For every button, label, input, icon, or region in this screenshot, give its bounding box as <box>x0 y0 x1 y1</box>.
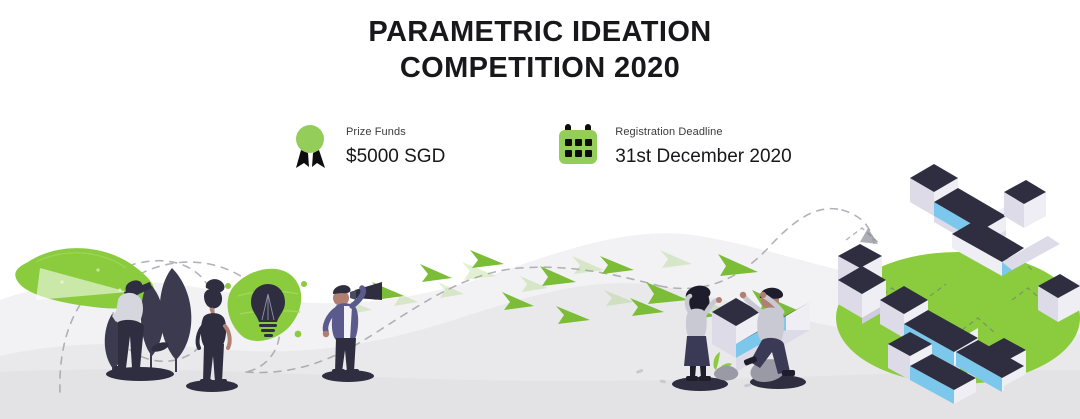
block-module <box>838 244 886 324</box>
construction-marks <box>846 228 1046 340</box>
green-disc <box>836 252 1080 384</box>
telescope-light-cone <box>36 268 128 300</box>
block-module <box>956 338 1026 392</box>
plant-and-rock <box>713 352 738 381</box>
dark-leaf-shapes <box>105 268 192 376</box>
page-title: PARAMETRIC IDEATION COMPETITION 2020 <box>0 14 1080 86</box>
paper-plane-flock <box>348 250 806 324</box>
title-line-2: COMPETITION 2020 <box>0 50 1080 86</box>
info-value-prize-funds: $5000 SGD <box>346 144 445 170</box>
lightbulb-blob <box>225 269 307 341</box>
construction-block <box>712 298 810 372</box>
green-leaf-blob <box>15 248 154 308</box>
info-label-prize-funds: Prize Funds <box>346 125 445 139</box>
megaphone-man <box>322 282 382 382</box>
award-medal-icon <box>288 122 334 170</box>
standing-woman <box>186 279 238 392</box>
info-text-prize-funds: Prize Funds $5000 SGD <box>346 122 445 170</box>
block-module <box>952 180 1060 276</box>
info-text-registration-deadline: Registration Deadline 31st December 2020 <box>615 122 791 170</box>
title-line-1: PARAMETRIC IDEATION <box>0 14 1080 50</box>
isometric-blocks <box>838 164 1080 404</box>
info-item-prize-funds: Prize Funds $5000 SGD <box>288 122 445 170</box>
info-value-registration-deadline: 31st December 2020 <box>615 144 791 170</box>
info-row: Prize Funds $5000 SGD R <box>288 122 792 170</box>
block-module <box>888 332 976 404</box>
builder-man <box>740 288 806 389</box>
info-item-registration-deadline: Registration Deadline 31st December 2020 <box>557 122 791 170</box>
block-module <box>880 286 978 372</box>
block-module <box>1038 274 1080 322</box>
calendar-icon <box>557 122 603 170</box>
lightbulb-icon <box>251 284 285 337</box>
info-label-registration-deadline: Registration Deadline <box>615 125 791 139</box>
scattered-debris <box>636 369 751 388</box>
grey-hills <box>0 233 1080 419</box>
dashed-path <box>60 209 874 392</box>
telescope-person <box>106 280 174 381</box>
path-arrowhead <box>860 228 878 244</box>
builder-woman <box>672 286 728 391</box>
competition-poster: PARAMETRIC IDEATION COMPETITION 2020 Pri… <box>0 0 1080 419</box>
block-module <box>910 164 1006 250</box>
